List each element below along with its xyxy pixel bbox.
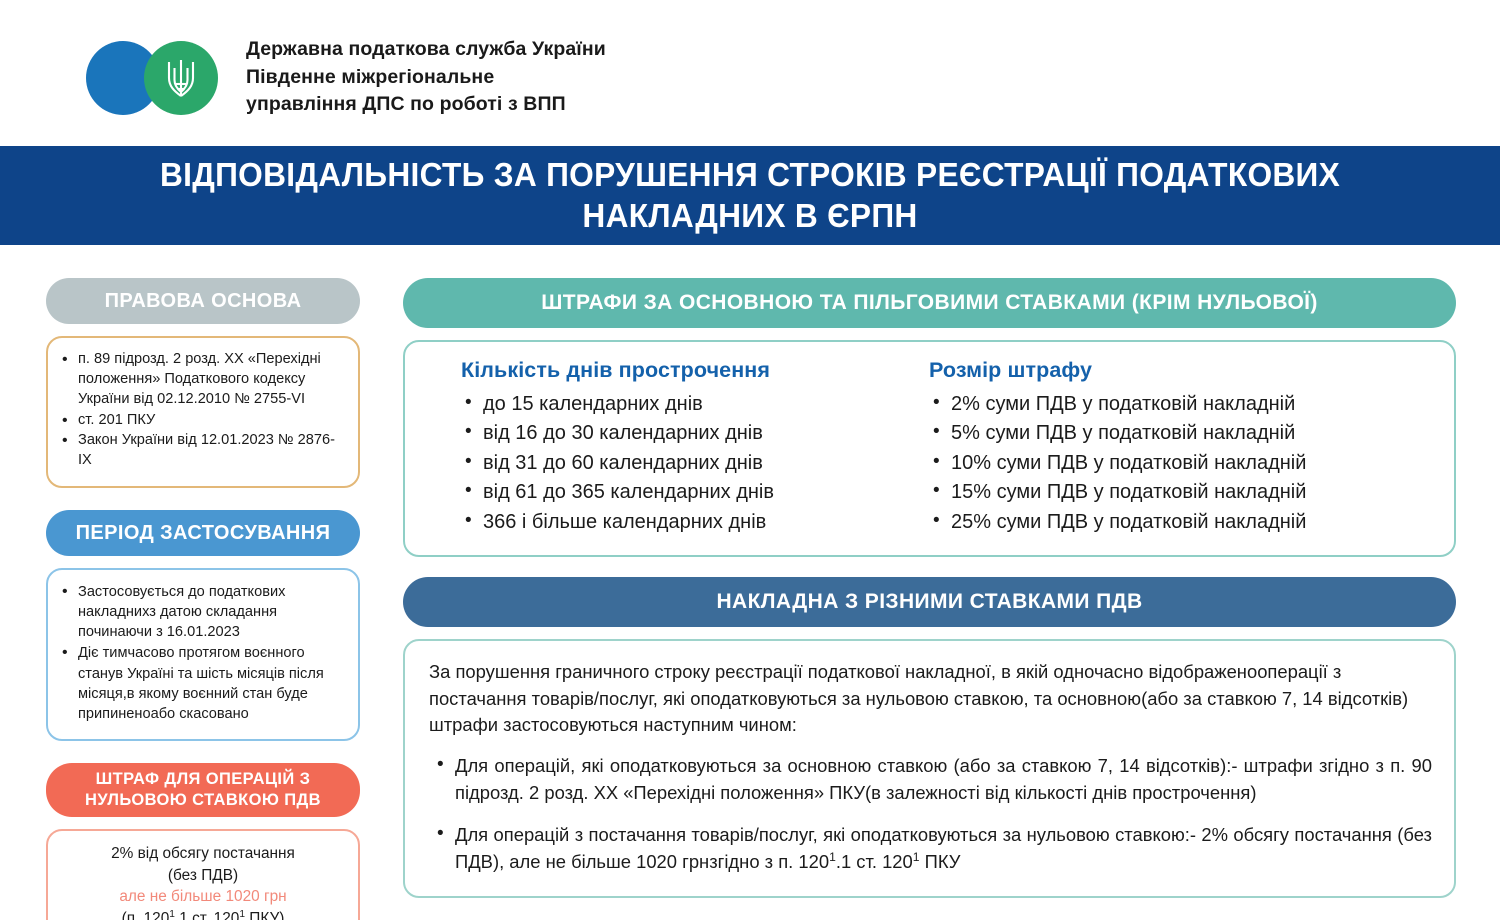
list-item: 5% суми ПДВ у податковій накладній [929,419,1432,448]
list-item: від 31 до 60 календарних днів [461,449,897,478]
application-period-heading-label: ПЕРІОД ЗАСТОСУВАННЯ [76,522,331,545]
zero-rate-penalty-card: 2% від обсягу постачання (без ПДВ) але н… [46,829,360,920]
application-period-heading: ПЕРІОД ЗАСТОСУВАННЯ [46,510,360,556]
right-column: ШТРАФИ ЗА ОСНОВНОЮ ТА ПІЛЬГОВИМИ СТАВКАМ… [403,278,1456,898]
title-banner: ВІДПОВІДАЛЬНІСТЬ ЗА ПОРУШЕННЯ СТРОКІВ РЕ… [0,146,1500,245]
zero-rate-heading-line-2: НУЛЬОВОЮ СТАВКОЮ ПДВ [85,790,321,811]
mixed-rates-intro: За порушення граничного строку реєстраці… [429,659,1432,739]
zero-rate-line-2: (без ПДВ) [58,865,348,887]
days-column-header: Кількість днів прострочення [461,358,897,383]
fine-column-header: Розмір штрафу [929,358,1432,383]
list-item: Для операцій з постачання товарів/послуг… [429,822,1432,876]
mixed-rates-card: За порушення граничного строку реєстраці… [403,639,1456,898]
mixed-rates-heading-label: НАКЛАДНА З РІЗНИМИ СТАВКАМИ ПДВ [716,590,1142,614]
standard-rates-card: Кількість днів прострочення до 15 календ… [403,340,1456,557]
list-item: 2% суми ПДВ у податковій накладній [929,390,1432,419]
infographic-page: Державна податкова служба України Півден… [0,0,1500,920]
list-item: Закон України від 12.01.2023 № 2876-IX [58,431,344,471]
legal-basis-card: п. 89 підрозд. 2 розд. XX «Перехідні пол… [46,336,360,488]
list-item: від 61 до 365 календарних днів [461,478,897,507]
list-item: 10% суми ПДВ у податковій накладній [929,449,1432,478]
page-title: ВІДПОВІДАЛЬНІСТЬ ЗА ПОРУШЕННЯ СТРОКІВ РЕ… [126,155,1374,236]
fine-column: Розмір штрафу 2% суми ПДВ у податковій н… [897,358,1432,537]
days-column: Кількість днів прострочення до 15 календ… [427,358,897,537]
brand-header: Державна податкова служба України Півден… [86,36,606,119]
mixed-rates-list: Для операцій, які оподатковуються за осн… [429,753,1432,876]
list-item: п. 89 підрозд. 2 розд. XX «Перехідні пол… [58,350,344,410]
list-item: від 16 до 30 календарних днів [461,419,897,448]
list-item: 15% суми ПДВ у податковій накладній [929,478,1432,507]
zero-rate-cap-note: але не більше 1020 грн [58,886,348,908]
legal-basis-heading-label: ПРАВОВА ОСНОВА [105,290,302,313]
zero-rate-heading-line-1: ШТРАФ ДЛЯ ОПЕРАЦІЙ З [96,769,311,790]
zero-rate-line-1: 2% від обсягу постачання [58,843,348,865]
days-list: до 15 календарних днів від 16 до 30 кале… [461,390,897,537]
agency-name-line-1: Державна податкова служба України [246,36,606,64]
list-item: Діє тимчасово протягом воєнного станув У… [58,643,344,724]
list-item: до 15 календарних днів [461,390,897,419]
standard-rates-heading-label: ШТРАФИ ЗА ОСНОВНОЮ ТА ПІЛЬГОВИМИ СТАВКАМ… [541,291,1318,315]
ukraine-trident-icon [144,41,218,115]
application-period-card: Застосовується до податкових накладнихз … [46,568,360,741]
agency-name-line-3: управління ДПС по роботі з ВПП [246,91,606,119]
agency-name-line-2: Південне міжрегіональне [246,64,606,92]
legal-basis-list: п. 89 підрозд. 2 розд. XX «Перехідні пол… [58,350,344,471]
zero-rate-penalty-heading: ШТРАФ ДЛЯ ОПЕРАЦІЙ З НУЛЬОВОЮ СТАВКОЮ ПД… [46,763,360,817]
mixed-rates-heading: НАКЛАДНА З РІЗНИМИ СТАВКАМИ ПДВ [403,577,1456,627]
standard-rates-heading: ШТРАФИ ЗА ОСНОВНОЮ ТА ПІЛЬГОВИМИ СТАВКАМ… [403,278,1456,328]
agency-name: Державна податкова служба України Півден… [246,36,606,119]
list-item: Застосовується до податкових накладнихз … [58,582,344,642]
legal-basis-heading: ПРАВОВА ОСНОВА [46,278,360,324]
list-item: ст. 201 ПКУ [58,411,344,431]
agency-logo [86,41,228,115]
fine-list: 2% суми ПДВ у податковій накладній 5% су… [929,390,1432,537]
application-period-list: Застосовується до податкових накладнихз … [58,582,344,724]
left-column: ПРАВОВА ОСНОВА п. 89 підрозд. 2 розд. XX… [46,278,360,920]
list-item: Для операцій, які оподатковуються за осн… [429,753,1432,806]
zero-rate-reference: (п. 1201.1 ст. 1201 ПКУ) [58,908,348,920]
list-item: 25% суми ПДВ у податковій накладній [929,508,1432,537]
list-item: 366 і більше календарних днів [461,508,897,537]
